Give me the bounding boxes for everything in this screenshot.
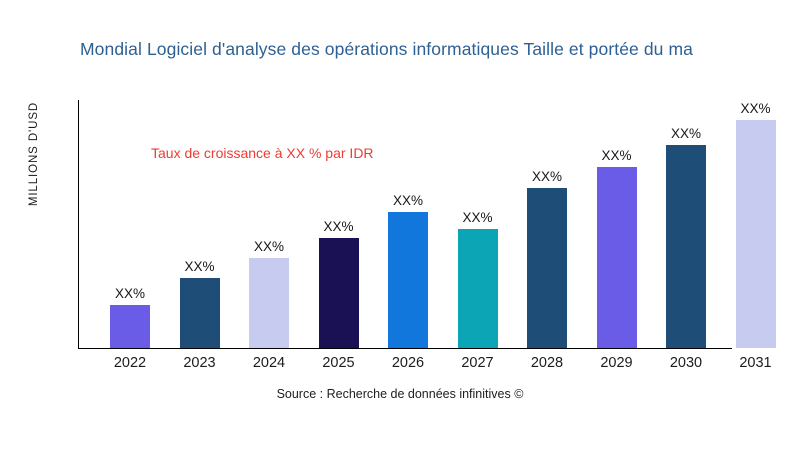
chart-canvas: Mondial Logiciel d'analyse des opération… (0, 0, 800, 450)
bar-value-label-2025: XX% (323, 219, 353, 234)
bar-rect-2024[interactable] (249, 258, 289, 348)
bar-rect-2030[interactable] (666, 145, 706, 348)
x-tick-label-2024: 2024 (229, 353, 309, 373)
bar-2029[interactable]: XX% (597, 167, 637, 348)
bar-2023[interactable]: XX% (180, 278, 220, 348)
bar-value-label-2023: XX% (184, 259, 214, 274)
bar-rect-2023[interactable] (180, 278, 220, 348)
x-tick-label-2027: 2027 (438, 353, 518, 373)
bar-rect-2022[interactable] (110, 305, 150, 348)
x-tick-label-2031: 2031 (716, 353, 796, 373)
x-tick-label-2022: 2022 (90, 353, 170, 373)
bar-value-label-2029: XX% (601, 148, 631, 163)
bar-2022[interactable]: XX% (110, 305, 150, 348)
bar-2025[interactable]: XX% (319, 238, 359, 348)
source-note: Source : Recherche de données infinitive… (0, 386, 800, 402)
x-tick-label-2029: 2029 (577, 353, 657, 373)
bar-value-label-2028: XX% (532, 169, 562, 184)
bar-rect-2031[interactable] (736, 120, 776, 348)
bar-rect-2027[interactable] (458, 229, 498, 348)
bar-rect-2028[interactable] (527, 188, 567, 348)
x-tick-label-2026: 2026 (368, 353, 448, 373)
bar-value-label-2027: XX% (462, 210, 492, 225)
plot-area: XX%2022XX%2023XX%2024XX%2025XX%2026XX%20… (0, 0, 800, 450)
bar-2028[interactable]: XX% (527, 188, 567, 348)
bar-value-label-2024: XX% (254, 239, 284, 254)
bar-2026[interactable]: XX% (388, 212, 428, 348)
x-tick-label-2023: 2023 (160, 353, 240, 373)
bar-value-label-2026: XX% (393, 193, 423, 208)
bar-2030[interactable]: XX% (666, 145, 706, 348)
bar-2024[interactable]: XX% (249, 258, 289, 348)
bar-value-label-2031: XX% (740, 101, 770, 116)
x-tick-label-2028: 2028 (507, 353, 587, 373)
x-tick-label-2030: 2030 (646, 353, 726, 373)
bar-rect-2025[interactable] (319, 238, 359, 348)
bar-rect-2029[interactable] (597, 167, 637, 348)
bar-value-label-2030: XX% (671, 126, 701, 141)
bar-2031[interactable]: XX% (736, 120, 776, 348)
bar-rect-2026[interactable] (388, 212, 428, 348)
bar-value-label-2022: XX% (115, 286, 145, 301)
bar-2027[interactable]: XX% (458, 229, 498, 348)
x-tick-label-2025: 2025 (299, 353, 379, 373)
